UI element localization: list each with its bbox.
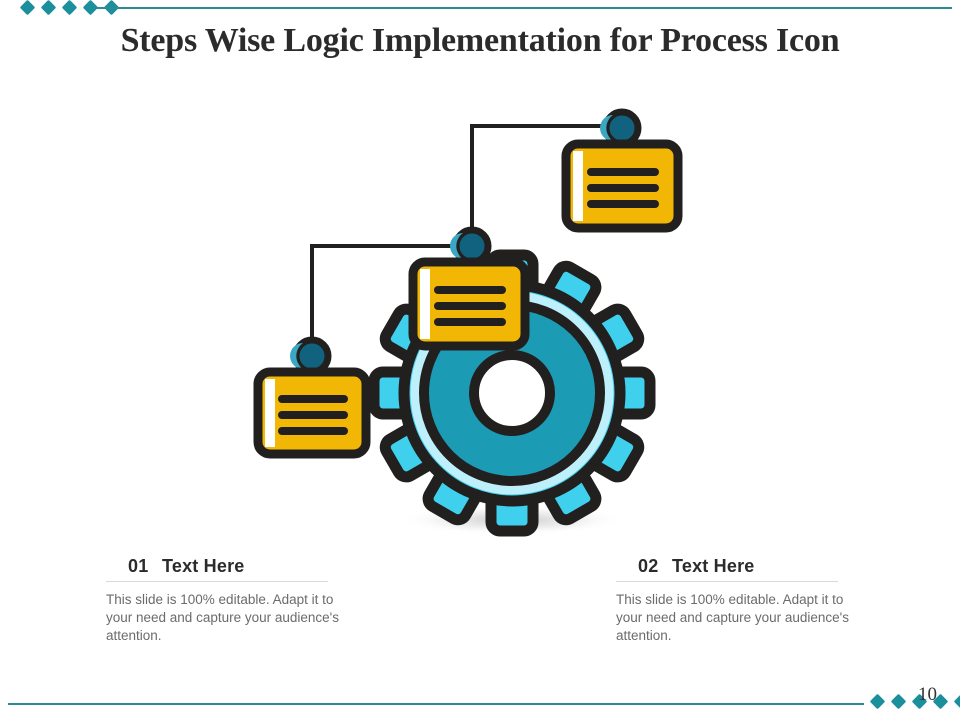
section-heading-01: 01 Text Here	[106, 556, 328, 582]
diamond-icon	[20, 0, 36, 15]
section-number: 01	[106, 556, 162, 577]
diamond-icon	[891, 694, 907, 710]
page-title: Steps Wise Logic Implementation for Proc…	[0, 22, 960, 60]
process-diagram	[250, 100, 720, 540]
section-label: Text Here	[672, 556, 755, 577]
card-left-strip	[420, 269, 430, 339]
section-block-01: 01 Text Here This slide is 100% editable…	[106, 556, 406, 645]
top-divider-line	[96, 7, 952, 9]
section-heading-02: 02 Text Here	[616, 556, 838, 582]
bottom-divider-line	[8, 703, 864, 705]
section-body-text: This slide is 100% editable. Adapt it to…	[106, 591, 346, 645]
slide-canvas: Steps Wise Logic Implementation for Proc…	[0, 0, 960, 720]
diamond-icon	[41, 0, 57, 15]
section-body-text: This slide is 100% editable. Adapt it to…	[616, 591, 856, 645]
diamond-icon	[870, 694, 886, 710]
bottom-right-diamond-decoration	[872, 696, 960, 707]
page-number: 10	[918, 684, 937, 706]
section-block-02: 02 Text Here This slide is 100% editable…	[616, 556, 916, 645]
card-bottom[interactable]	[258, 340, 366, 454]
diamond-icon	[954, 694, 960, 710]
card-top[interactable]	[566, 112, 678, 228]
diamond-icon	[62, 0, 78, 15]
card-left-strip	[573, 151, 583, 221]
section-number: 02	[616, 556, 672, 577]
card-left-strip	[265, 379, 275, 447]
gear-hub	[474, 355, 550, 431]
section-label: Text Here	[162, 556, 245, 577]
